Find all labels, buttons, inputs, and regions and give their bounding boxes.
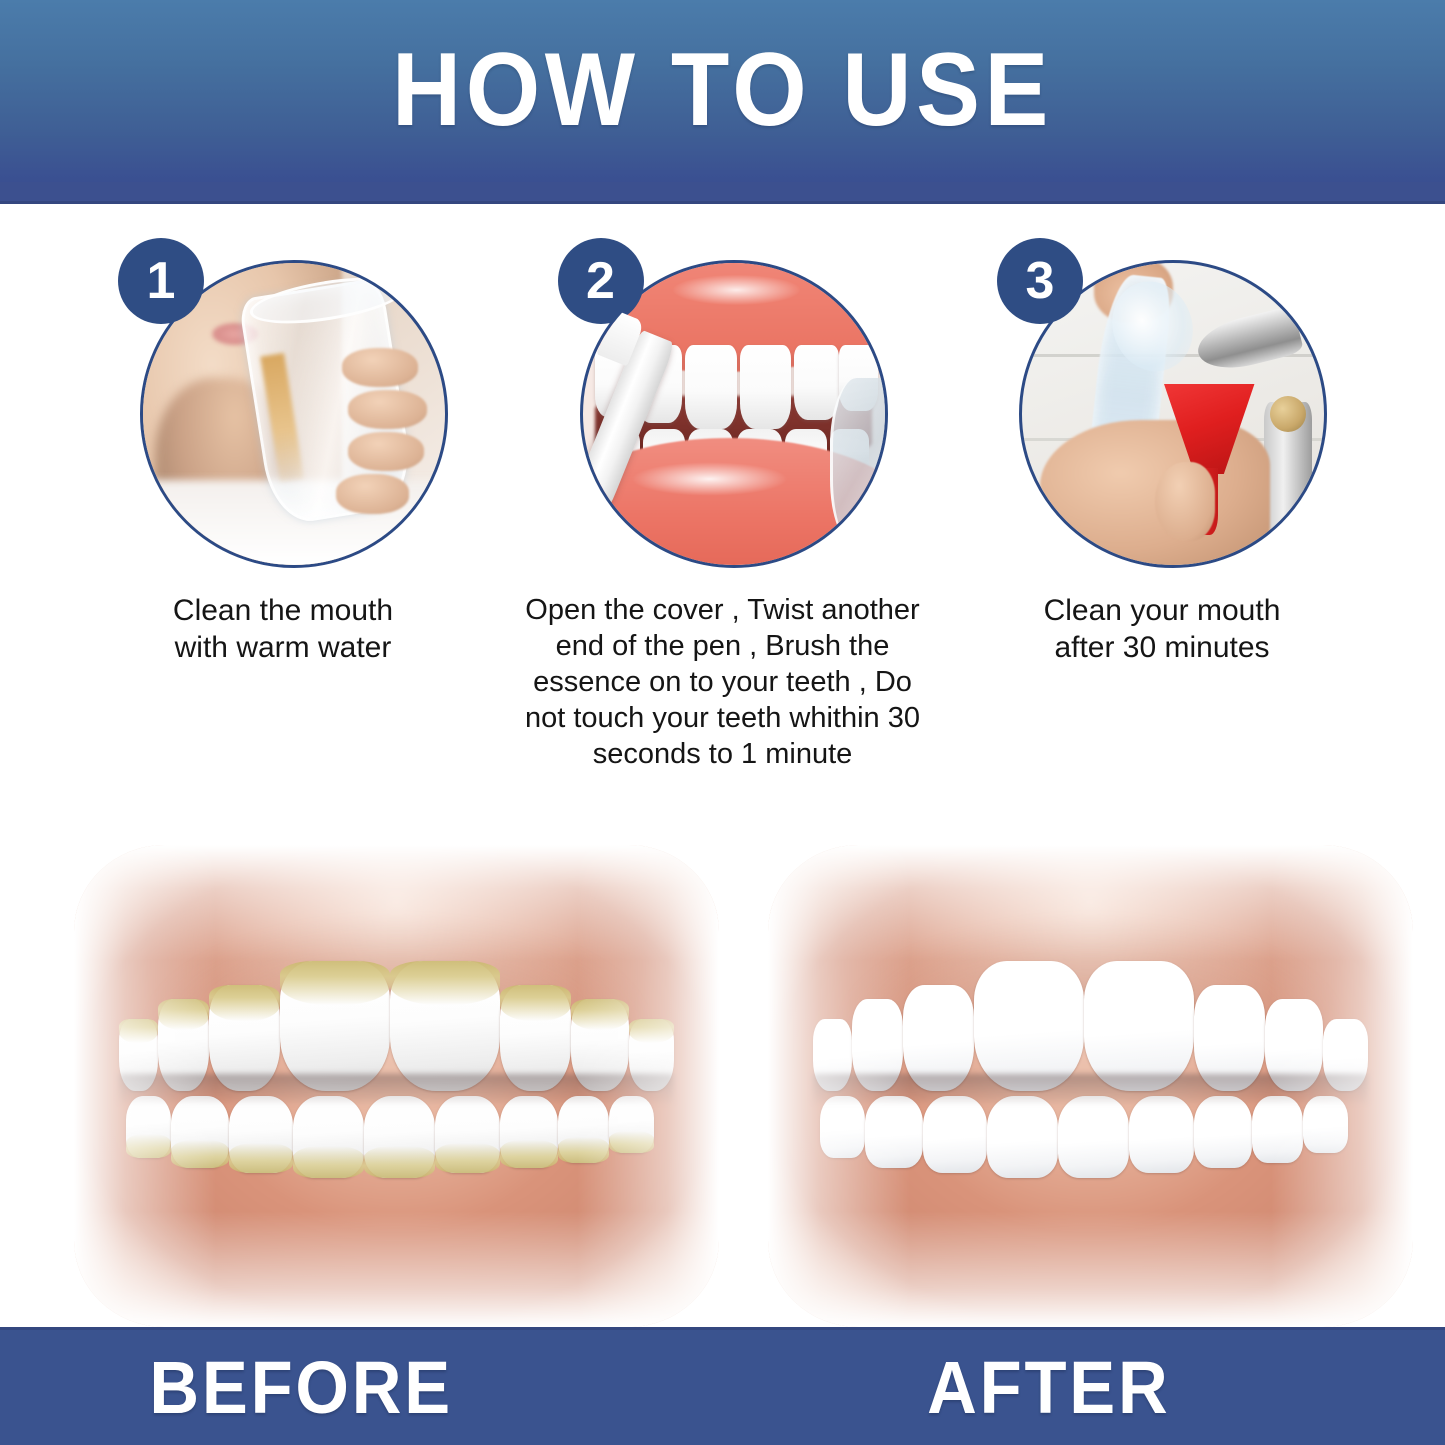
after-teeth-image xyxy=(768,845,1413,1327)
step-3-caption: Clean your mouth after 30 minutes xyxy=(957,592,1367,666)
tooth-shape xyxy=(740,345,791,430)
step-3-caption-line-2: after 30 minutes xyxy=(963,629,1361,666)
thumb-shape xyxy=(1155,462,1215,541)
before-teeth-image xyxy=(74,845,719,1327)
step-1: 1 Clean the mouth with warm water xyxy=(78,238,488,772)
image-edge-fade xyxy=(768,845,1413,1327)
before-after-comparison xyxy=(0,845,1445,1327)
step-3-caption-line-1: Clean your mouth xyxy=(963,592,1361,629)
before-label: BEFORE xyxy=(149,1348,453,1428)
step-2-caption: Open the cover , Twist another end of th… xyxy=(518,592,928,772)
header-divider-rule xyxy=(0,182,1445,204)
step-3-number-badge: 3 xyxy=(997,238,1083,324)
lip-highlight xyxy=(673,275,800,305)
finger-shape xyxy=(336,474,408,513)
step-1-caption-line-1: Clean the mouth xyxy=(84,592,482,629)
step-1-caption: Clean the mouth with warm water xyxy=(78,592,488,666)
page-title: HOW TO USE xyxy=(58,34,1387,146)
faucet-spout-shape xyxy=(1193,306,1304,378)
step-1-caption-line-2: with warm water xyxy=(84,629,482,666)
faucet-knob-shape xyxy=(1270,396,1306,432)
finger-shape xyxy=(342,348,418,387)
after-label-cell: AFTER xyxy=(723,1330,1445,1445)
dental-mirror-shape xyxy=(830,378,887,547)
step-2: 2 Open the cover , Twist another end of … xyxy=(518,238,928,772)
step-3-media: 3 xyxy=(997,238,1327,568)
step-1-number-badge: 1 xyxy=(118,238,204,324)
step-2-number-badge: 2 xyxy=(558,238,644,324)
step-2-media: 2 xyxy=(558,238,888,568)
tooth-shape xyxy=(794,345,839,421)
steps-row: 1 Clean the mouth with warm water xyxy=(0,238,1445,772)
step-1-media: 1 xyxy=(118,238,448,568)
image-edge-fade xyxy=(74,845,719,1327)
tooth-shape xyxy=(685,345,736,430)
finger-shape xyxy=(348,432,424,471)
infographic-page: HOW TO USE 1 xyxy=(0,0,1445,1445)
finger-shape xyxy=(348,390,427,429)
before-after-label-bar: BEFORE AFTER xyxy=(0,1327,1445,1445)
before-label-cell: BEFORE xyxy=(0,1330,723,1445)
after-label: AFTER xyxy=(927,1348,1170,1428)
step-3: 3 Clean your mouth after 30 minutes xyxy=(957,238,1367,772)
lip-highlight xyxy=(631,462,788,495)
